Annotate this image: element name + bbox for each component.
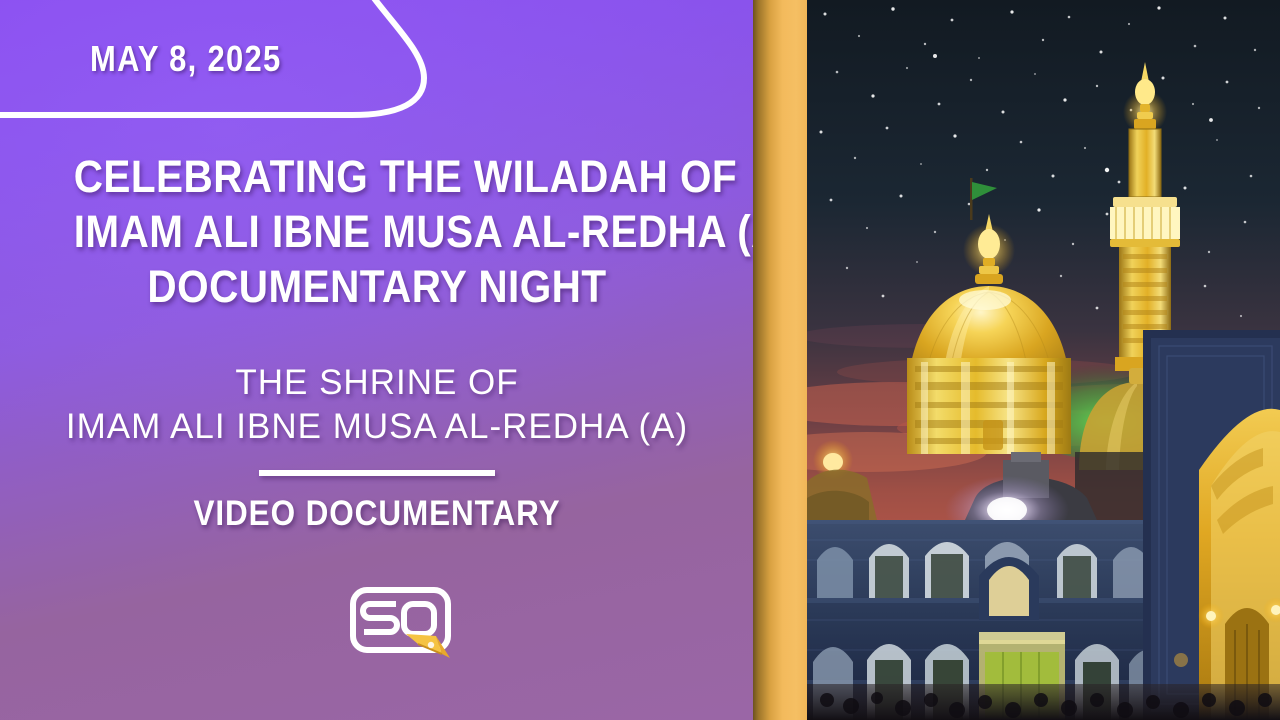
subtitle-line-2: IMAM ALI IBNE MUSA AL-REDHA (A) [0, 405, 754, 450]
subtitle-line-1: THE SHRINE OF [0, 361, 754, 406]
text-content-block: CELEBRATING THE WILADAH OF IMAM ALI IBNE… [0, 150, 754, 534]
gold-divider-strip [753, 0, 807, 720]
kicker-label: VIDEO DOCUMENTARY [38, 494, 717, 534]
headline-line-1: CELEBRATING THE WILADAH OF [74, 150, 681, 205]
date-label: MAY 8, 2025 [90, 38, 281, 80]
date-banner: MAY 8, 2025 [0, 0, 440, 130]
logo-letter-q [404, 604, 434, 634]
headline: CELEBRATING THE WILADAH OF IMAM ALI IBNE… [38, 150, 717, 315]
sq-logo [346, 584, 456, 660]
headline-line-2: IMAM ALI IBNE MUSA AL-REDHA (A) [74, 205, 681, 260]
subtitle: THE SHRINE OF IMAM ALI IBNE MUSA AL-REDH… [0, 361, 754, 451]
headline-line-3: DOCUMENTARY NIGHT [74, 260, 681, 315]
logo-letter-s [363, 604, 397, 632]
shrine-night-photograph [807, 0, 1280, 720]
section-divider [259, 470, 495, 476]
promo-slide: MAY 8, 2025 CELEBRATING THE WILADAH OF I… [0, 0, 1280, 720]
